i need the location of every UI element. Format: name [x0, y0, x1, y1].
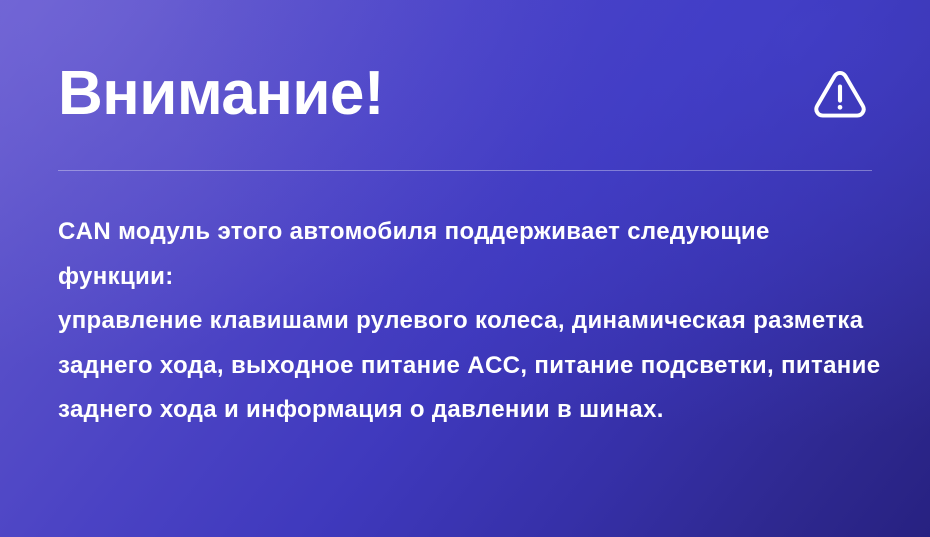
header-divider [58, 170, 872, 171]
warning-triangle-icon [810, 64, 872, 124]
intro-paragraph: CAN модуль этого автомобиля поддерживает… [58, 210, 890, 299]
features-paragraph: управление клавишами рулевого колеса, ди… [58, 299, 890, 433]
page-title: Внимание! [58, 63, 384, 125]
warning-banner: Внимание! CAN модуль этого автомобиля по… [0, 0, 930, 537]
banner-header: Внимание! [58, 52, 872, 136]
banner-content: Внимание! CAN модуль этого автомобиля по… [0, 0, 930, 537]
banner-body: CAN модуль этого автомобиля поддерживает… [58, 210, 890, 433]
